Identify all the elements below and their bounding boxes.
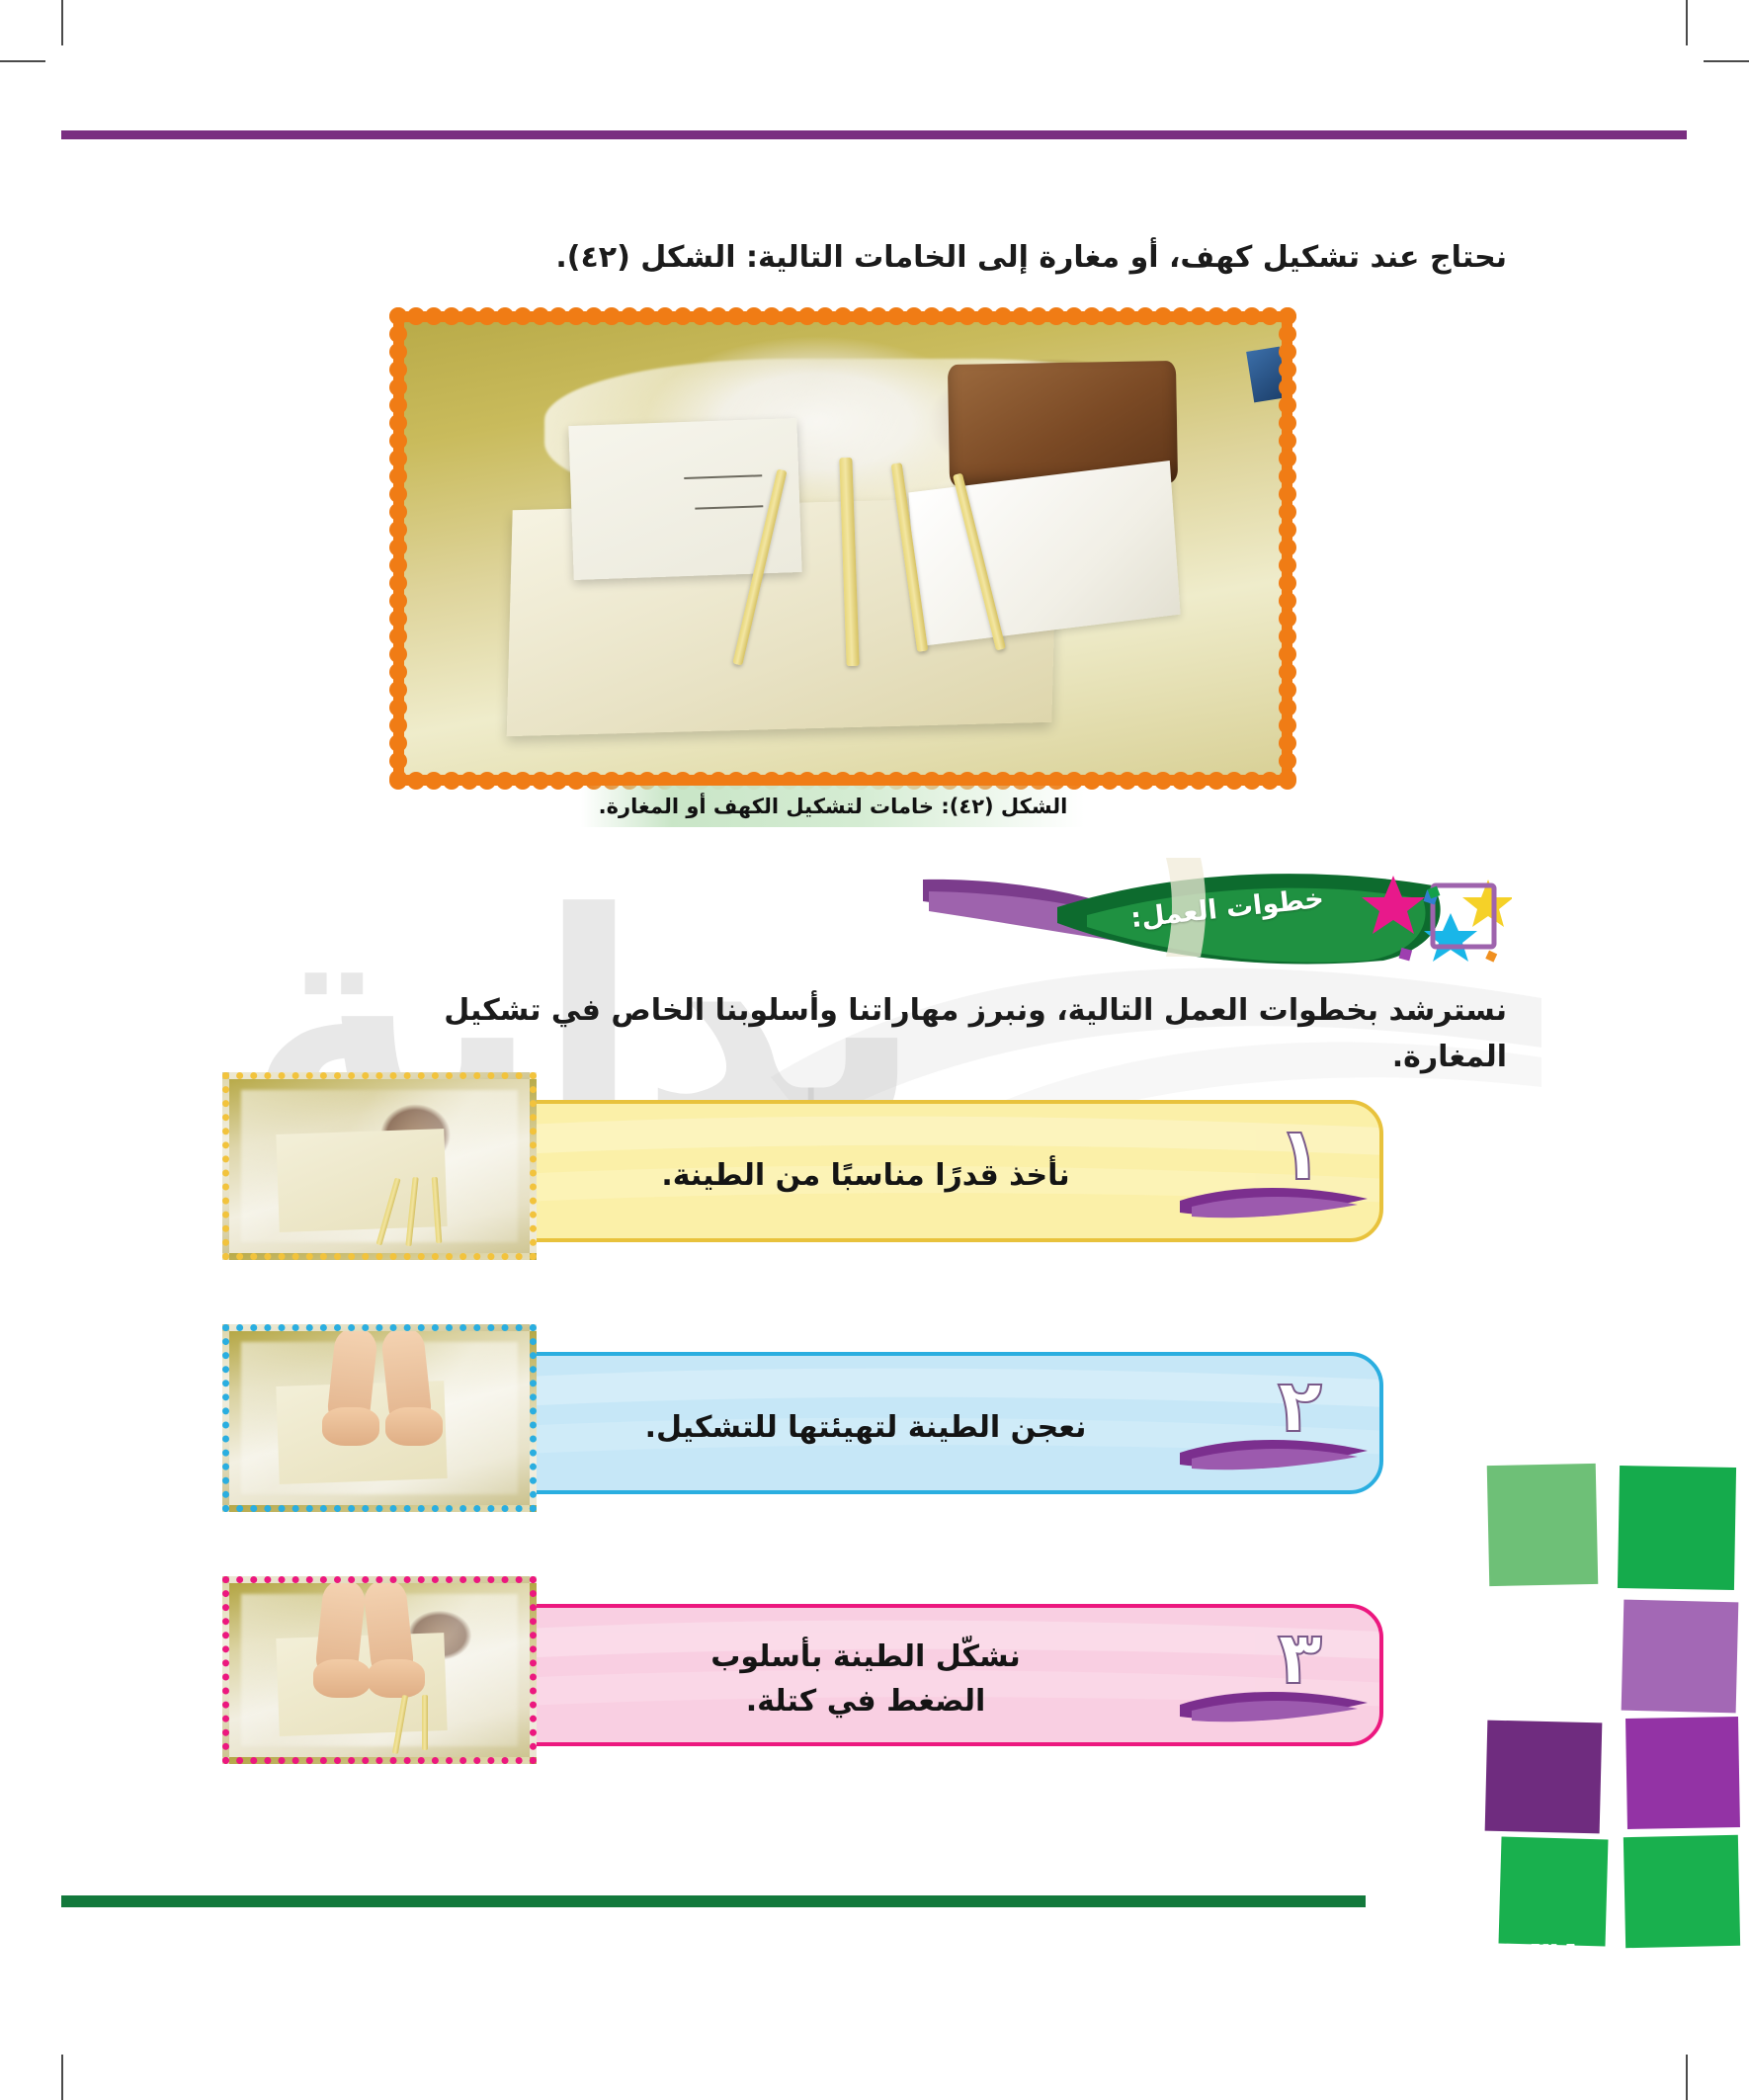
deco-square: [1624, 1835, 1740, 1948]
child-hand: [313, 1659, 371, 1698]
tissue: [908, 461, 1181, 646]
step-number-badge: ٢: [1223, 1364, 1352, 1492]
crop-mark-bottom-left: [61, 2055, 63, 2100]
number-swoosh-icon: [1180, 1435, 1368, 1478]
child-hand: [322, 1407, 379, 1446]
step-text: نشكّل الطينة بأسلوب الضغط في كتلة.: [520, 1608, 1211, 1746]
crop-mark-left: [0, 60, 45, 62]
steps-banner: خطوات العمل:: [919, 858, 1512, 965]
step-text: نأخذ قدرًا مناسبًا من الطينة.: [520, 1104, 1211, 1242]
step-text-line: نشكّل الطينة بأسلوب: [710, 1635, 1021, 1679]
deco-square: [1485, 1721, 1603, 1834]
crop-mark-right: [1704, 60, 1749, 62]
crop-mark-bottom-right: [1686, 2055, 1688, 2100]
step-number-badge: ١: [1223, 1112, 1352, 1240]
step-row: نأخذ قدرًا مناسبًا من الطينة. ١: [222, 1072, 1383, 1260]
blue-corner: [1246, 347, 1288, 403]
work-board: [276, 1129, 448, 1231]
thumbnail-image: [229, 1079, 530, 1253]
materials-photo: [404, 322, 1282, 775]
deco-square: [1487, 1464, 1599, 1586]
step-2-photo: [222, 1324, 537, 1512]
footer-rule: [61, 1895, 1366, 1907]
thumbnail-image: [229, 1583, 530, 1757]
deco-square: [1625, 1717, 1740, 1829]
crop-mark-top-left: [61, 0, 63, 45]
step-1-photo: [222, 1072, 537, 1260]
page-canvas: نحتاج عند تشكيل كهف، أو مغارة إلى الخاما…: [0, 0, 1749, 2100]
step-number: ٣: [1278, 1622, 1322, 1695]
deco-square: [1618, 1466, 1736, 1590]
step-number: ١: [1278, 1118, 1322, 1191]
step-row: نشكّل الطينة بأسلوب الضغط في كتلة. ٣: [222, 1576, 1383, 1764]
step-text-line: نأخذ قدرًا مناسبًا من الطينة.: [661, 1153, 1069, 1198]
child-hand: [368, 1659, 425, 1698]
step-text-line: نعجن الطينة لتهيئتها للتشكيل.: [645, 1405, 1087, 1450]
intro-sentence: نحتاج عند تشكيل كهف، أو مغارة إلى الخاما…: [351, 237, 1507, 279]
step-text-line: الضغط في كتلة.: [746, 1679, 986, 1723]
thumbnail-image: [229, 1331, 530, 1505]
step-3-photo: [222, 1576, 537, 1764]
header-rule: [61, 130, 1687, 139]
deco-square: [1622, 1600, 1739, 1714]
page-number: ٣٨: [1502, 1902, 1613, 2011]
step-text: نعجن الطينة لتهيئتها للتشكيل.: [520, 1356, 1211, 1494]
child-hand: [385, 1407, 443, 1446]
paragraph-line-1: نسترشد بخطوات العمل التالية، ونبرز مهارا…: [232, 988, 1507, 1035]
modeling-tool: [422, 1695, 428, 1750]
step-number-badge: ٣: [1223, 1616, 1352, 1744]
number-swoosh-icon: [1180, 1687, 1368, 1730]
step-row: نعجن الطينة لتهيئتها للتشكيل. ٢: [222, 1324, 1383, 1512]
number-swoosh-icon: [1180, 1183, 1368, 1226]
materials-figure: [393, 311, 1292, 786]
crop-mark-top-right: [1686, 0, 1688, 45]
figure-frame: [393, 311, 1292, 786]
step-number: ٢: [1278, 1370, 1322, 1443]
instruction-paragraph: نسترشد بخطوات العمل التالية، ونبرز مهارا…: [232, 988, 1507, 1080]
figure-caption: الشكل (٤٢): خامات لتشكيل الكهف أو المغار…: [581, 786, 1085, 827]
